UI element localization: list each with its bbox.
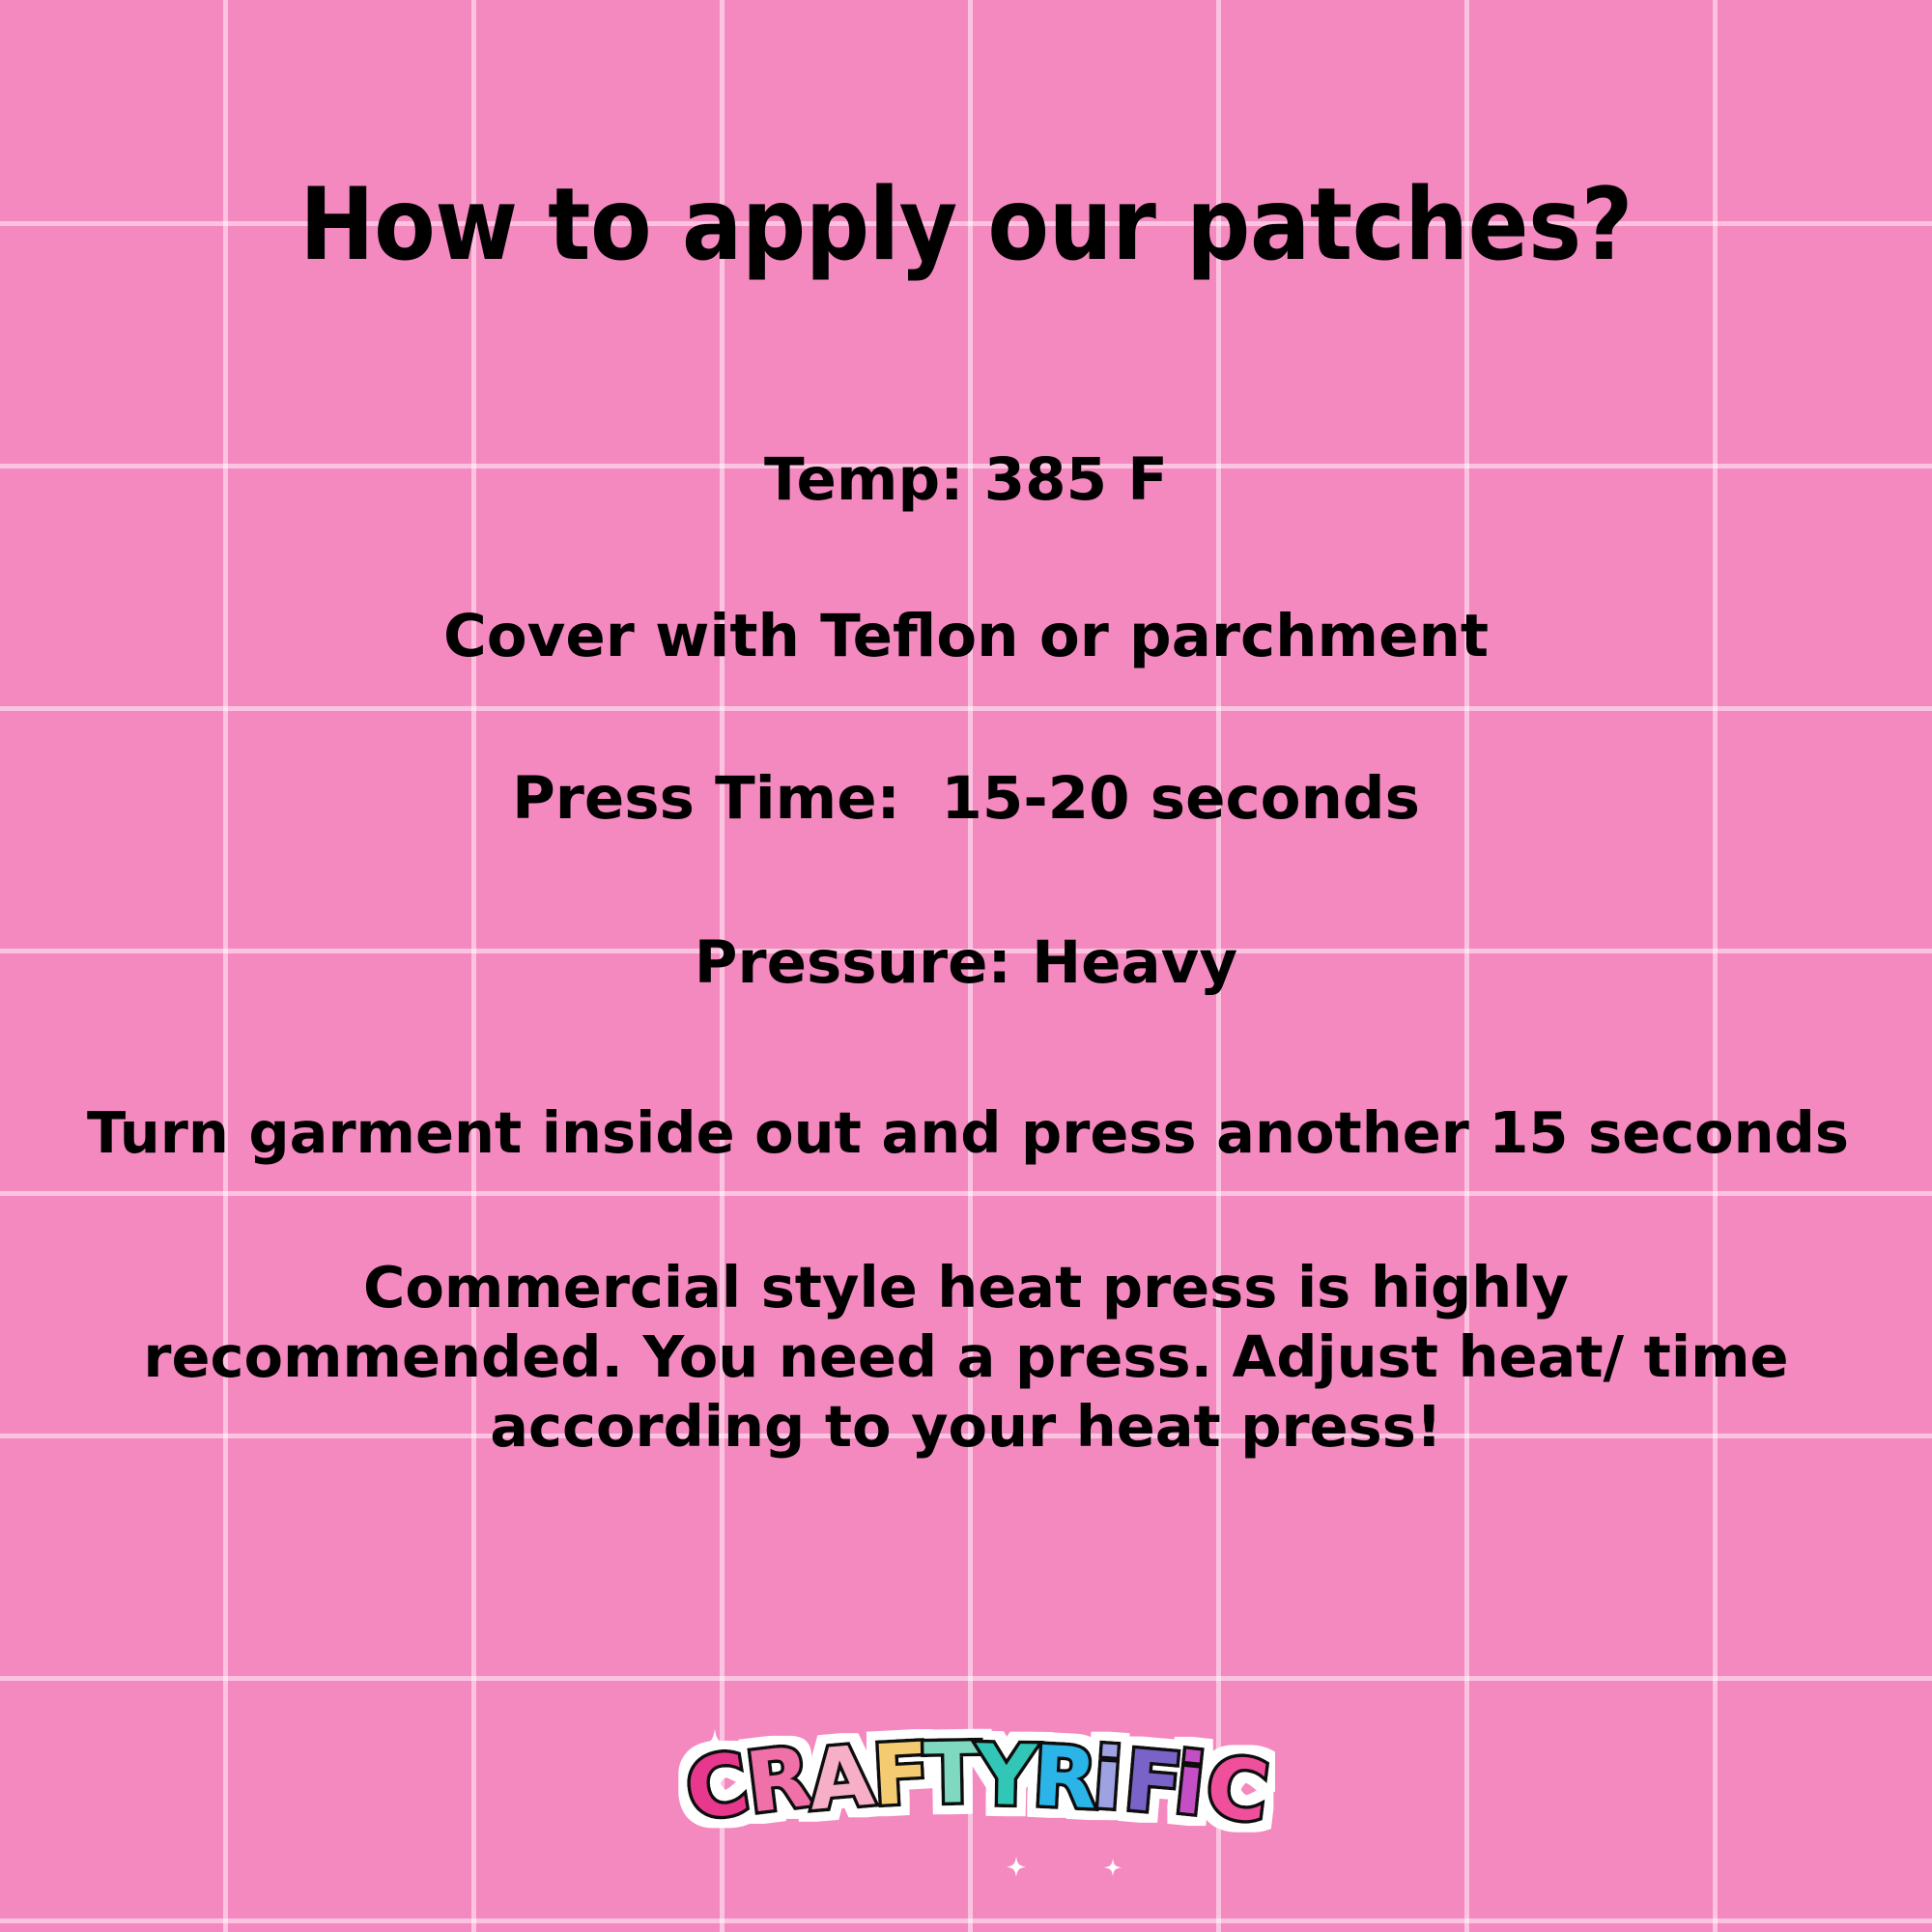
page-title: How to apply our patches? bbox=[0, 172, 1932, 279]
instruction-temp: Temp: 385 F bbox=[87, 447, 1845, 513]
instruction-press-time: Press Time: 15-20 seconds bbox=[87, 766, 1845, 832]
instruction-note: Commercial style heat press is highly re… bbox=[116, 1253, 1816, 1462]
sparkle-icon bbox=[1104, 1859, 1122, 1876]
logo-letter-R-2: R bbox=[1031, 1728, 1099, 1828]
logo-letter-A: A bbox=[805, 1727, 877, 1829]
instruction-turn-inside-out: Turn garment inside out and press anothe… bbox=[87, 1101, 1845, 1165]
logo-letter-glyph: R bbox=[1031, 1728, 1099, 1828]
sparkle-icon bbox=[1007, 1857, 1026, 1877]
logo-letter-glyph: i bbox=[1091, 1730, 1125, 1829]
instruction-pressure: Pressure: Heavy bbox=[87, 930, 1845, 996]
logo-letter-T: T bbox=[923, 1725, 982, 1823]
logo-letter-glyph: T bbox=[923, 1725, 982, 1823]
brand-logo-svg: C R A F T bbox=[657, 1712, 1275, 1905]
logo-letter-glyph: C bbox=[1201, 1739, 1273, 1842]
logo-letters: C R A F T bbox=[680, 1725, 1274, 1842]
logo-letter-Y: Y bbox=[975, 1727, 1039, 1825]
poster-content: How to apply our patches? Temp: 385 F Co… bbox=[0, 0, 1932, 1932]
logo-letter-C-2: C bbox=[1201, 1739, 1273, 1842]
instruction-cover: Cover with Teflon or parchment bbox=[87, 604, 1845, 669]
brand-logo: C R A F T bbox=[657, 1712, 1275, 1905]
logo-letter-i-1: i bbox=[1091, 1730, 1125, 1829]
logo-letter-glyph: A bbox=[805, 1727, 877, 1829]
poster-canvas: How to apply our patches? Temp: 385 F Co… bbox=[0, 0, 1932, 1932]
logo-letter-glyph: Y bbox=[975, 1727, 1039, 1825]
